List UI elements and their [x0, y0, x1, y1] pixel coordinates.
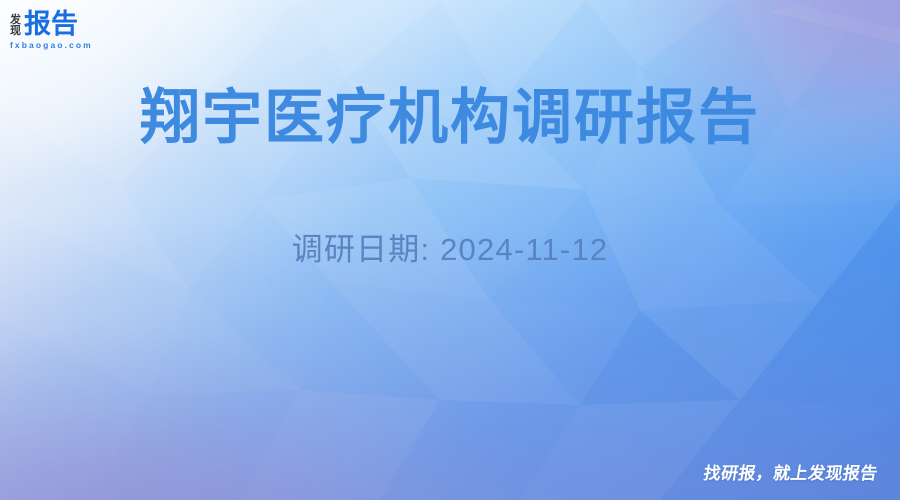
low-poly-background	[0, 0, 900, 500]
brand-tagline: 找研报，就上发现报告	[702, 459, 880, 484]
report-cover-slide: 发 现 报告 fxbaogao.com 翔宇医疗机构调研报告 调研日期: 202…	[0, 0, 900, 500]
brand-logo[interactable]: 发 现 报告 fxbaogao.com	[10, 8, 130, 54]
logo-wordmark: 报告	[24, 11, 78, 38]
logo-mark-icon: 发 现	[10, 15, 21, 38]
logo-mark-char-2: 现	[10, 26, 21, 37]
logo-url: fxbaogao.com	[10, 40, 130, 50]
logo-wordmark-row: 发 现 报告	[10, 8, 130, 38]
